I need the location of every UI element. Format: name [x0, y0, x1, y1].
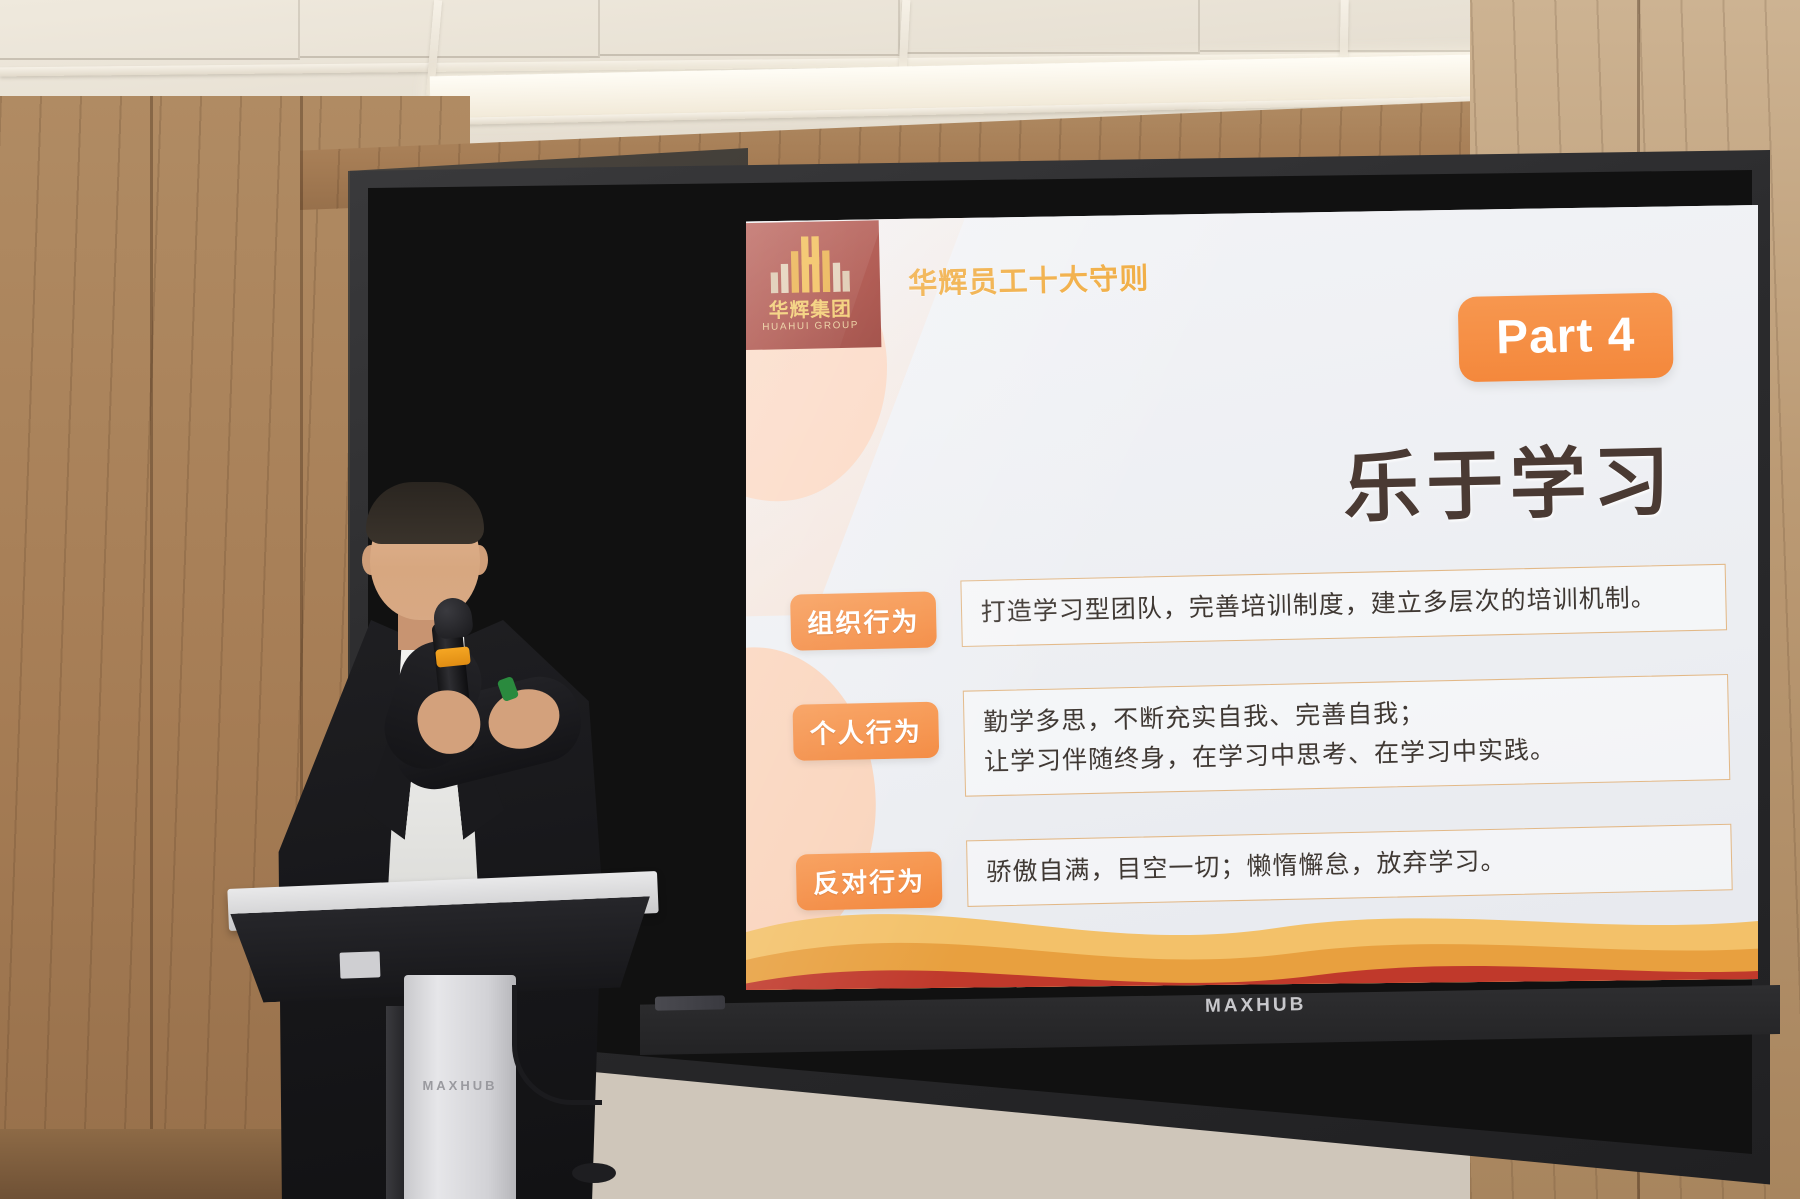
wave-graphic	[746, 817, 1758, 990]
microphone-band	[435, 646, 471, 667]
row-label-badge: 个人行为	[792, 702, 939, 761]
part-badge: Part 4	[1458, 292, 1674, 382]
presentation-screen[interactable]: 华辉集团 HUAHUI GROUP 华辉员工十大守则 Part 4 乐于学习 组…	[746, 205, 1758, 990]
slide-row: 个人行为 勤学多思，不断充实自我、完善自我； 让学习伴随终身，在学习中思考、在学…	[792, 674, 1730, 800]
slide-row: 组织行为 打造学习型团队，完善培训制度，建立多层次的培训机制。	[790, 564, 1727, 651]
row-line: 打造学习型团队，完善培训制度，建立多层次的培训机制。	[980, 578, 1707, 633]
podium-leg	[386, 1006, 404, 1199]
logo-english-name: HUAHUI GROUP	[746, 319, 881, 334]
slide-kicker: 华辉员工十大守则	[908, 256, 1150, 303]
conference-room-scene: 华辉集团 HUAHUI GROUP 华辉员工十大守则 Part 4 乐于学习 组…	[0, 0, 1800, 1199]
company-logo: 华辉集团 HUAHUI GROUP	[746, 220, 881, 350]
display-brand-label: MAXHUB	[1205, 994, 1307, 1018]
speaker-hair	[366, 482, 484, 544]
slide-title: 乐于学习	[1342, 419, 1677, 538]
row-body: 勤学多思，不断充实自我、完善自我； 让学习伴随终身，在学习中思考、在学习中实践。	[963, 674, 1731, 797]
building-icon	[770, 235, 850, 293]
wall-seam-1	[150, 96, 153, 1199]
floor-cable-cover	[572, 1163, 616, 1183]
slide: 华辉集团 HUAHUI GROUP 华辉员工十大守则 Part 4 乐于学习 组…	[746, 205, 1758, 990]
row-label-badge: 组织行为	[790, 591, 937, 650]
ir-sensor-bar	[655, 995, 725, 1010]
row-body: 打造学习型团队，完善培训制度，建立多层次的培训机制。	[960, 564, 1727, 647]
podium-control-plate[interactable]	[340, 951, 381, 978]
podium-brand-label: MAXHUB	[408, 1078, 512, 1093]
slide-footer-waves	[746, 817, 1758, 990]
